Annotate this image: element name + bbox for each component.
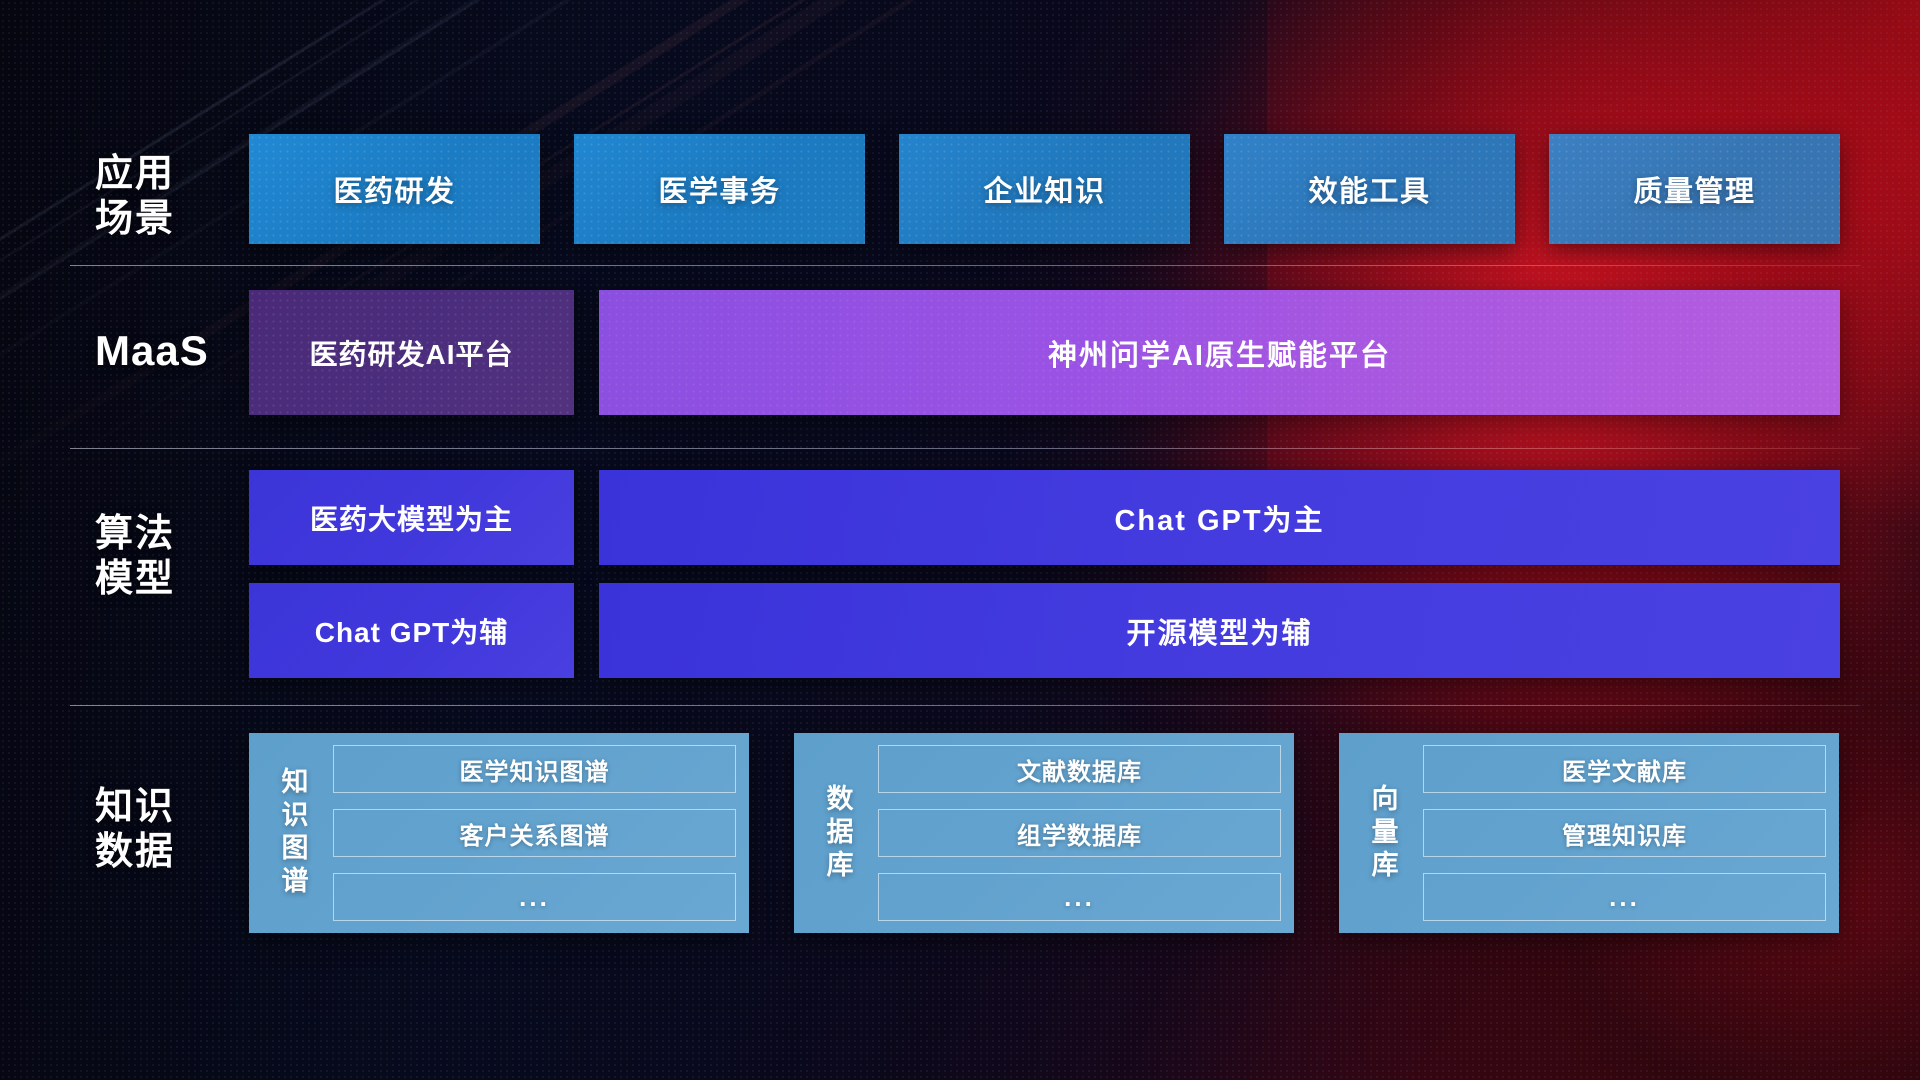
rail-line-1: 算法 xyxy=(95,512,245,557)
app-card-label: 质量管理 xyxy=(1633,168,1755,210)
algo-card-opensource-secondary[interactable]: 开源模型为辅 xyxy=(599,583,1840,678)
knowledge-item[interactable]: 文献数据库 xyxy=(878,745,1281,793)
knowledge-item-list: 医学知识图谱 客户关系图谱 ... xyxy=(323,745,736,921)
row-knowledge-data: 知识 数据 知识图谱 医学知识图谱 客户关系图谱 ... 数据库 文献数据库 xyxy=(0,733,1920,933)
knowledge-group-title: 知识图谱 xyxy=(261,745,323,921)
knowledge-item[interactable]: 管理知识库 xyxy=(1423,809,1826,857)
rail-label-knowledge-data: 知识 数据 xyxy=(95,785,245,875)
knowledge-group-title: 数据库 xyxy=(806,745,868,921)
divider-2 xyxy=(70,448,1860,449)
algo-card-chatgpt-primary[interactable]: Chat GPT为主 xyxy=(599,470,1840,565)
algo-card-pharma-llm-primary[interactable]: 医药大模型为主 xyxy=(249,470,574,565)
app-card-label: 医药研发 xyxy=(333,168,455,210)
row-application-scenarios: 应用 场景 医药研发 医学事务 企业知识 效能工具 xyxy=(0,134,1920,244)
algo-card-label: Chat GPT为主 xyxy=(1114,497,1324,539)
rail-line-2: 数据 xyxy=(95,830,245,875)
knowledge-item[interactable]: 医学文献库 xyxy=(1423,745,1826,793)
algo-card-label: Chat GPT为辅 xyxy=(315,611,509,651)
knowledge-item[interactable]: 组学数据库 xyxy=(878,809,1281,857)
rail-label-application-scenarios: 应用 场景 xyxy=(95,152,245,242)
app-card-label: 效能工具 xyxy=(1308,168,1430,210)
knowledge-item-list: 文献数据库 组学数据库 ... xyxy=(868,745,1281,921)
knowledge-group-knowledge-graph[interactable]: 知识图谱 医学知识图谱 客户关系图谱 ... xyxy=(249,733,749,933)
rail-label-algorithm-models: 算法 模型 xyxy=(95,512,245,602)
knowledge-item[interactable]: 医学知识图谱 xyxy=(333,745,736,793)
knowledge-item-more[interactable]: ... xyxy=(333,873,736,921)
algo-card-chatgpt-secondary[interactable]: Chat GPT为辅 xyxy=(249,583,574,678)
maas-card-pharma-ai-platform[interactable]: 医药研发AI平台 xyxy=(249,290,574,415)
knowledge-group-vector-store[interactable]: 向量库 医学文献库 管理知识库 ... xyxy=(1339,733,1839,933)
rail-line-1: 知识 xyxy=(95,785,245,830)
divider-1 xyxy=(70,265,1860,266)
divider-3 xyxy=(70,705,1860,706)
app-card-label: 企业知识 xyxy=(983,168,1105,210)
knowledge-item-more[interactable]: ... xyxy=(1423,873,1826,921)
algo-card-label: 医药大模型为主 xyxy=(310,498,513,538)
knowledge-item[interactable]: 客户关系图谱 xyxy=(333,809,736,857)
algo-card-label: 开源模型为辅 xyxy=(1126,610,1312,652)
rail-label-maas: MaaS xyxy=(95,326,245,376)
app-card-efficiency-tools[interactable]: 效能工具 xyxy=(1224,134,1515,244)
rail-line-2: 模型 xyxy=(95,557,245,602)
app-card-quality-management[interactable]: 质量管理 xyxy=(1549,134,1840,244)
maas-card-label: 神州问学AI原生赋能平台 xyxy=(1048,332,1391,374)
knowledge-group-title: 向量库 xyxy=(1351,745,1413,921)
row-maas: MaaS 医药研发AI平台 神州问学AI原生赋能平台 xyxy=(0,290,1920,415)
rail-line-1: 应用 xyxy=(95,152,245,197)
slide-canvas: 应用 场景 医药研发 医学事务 企业知识 效能工具 xyxy=(0,0,1920,1080)
rail-line-1: MaaS xyxy=(95,326,245,376)
knowledge-item-list: 医学文献库 管理知识库 ... xyxy=(1413,745,1826,921)
knowledge-item-more[interactable]: ... xyxy=(878,873,1281,921)
app-card-enterprise-knowledge[interactable]: 企业知识 xyxy=(899,134,1190,244)
maas-card-shenzhou-wenxue-platform[interactable]: 神州问学AI原生赋能平台 xyxy=(599,290,1840,415)
rail-line-2: 场景 xyxy=(95,197,245,242)
knowledge-group-database[interactable]: 数据库 文献数据库 组学数据库 ... xyxy=(794,733,1294,933)
app-card-medicine-rnd[interactable]: 医药研发 xyxy=(249,134,540,244)
app-card-medical-affairs[interactable]: 医学事务 xyxy=(574,134,865,244)
app-card-label: 医学事务 xyxy=(658,168,780,210)
maas-card-label: 医药研发AI平台 xyxy=(309,333,513,373)
row-algorithm-models: 算法 模型 医药大模型为主 Chat GPT为主 Chat GPT为辅 开源模型… xyxy=(0,470,1920,675)
